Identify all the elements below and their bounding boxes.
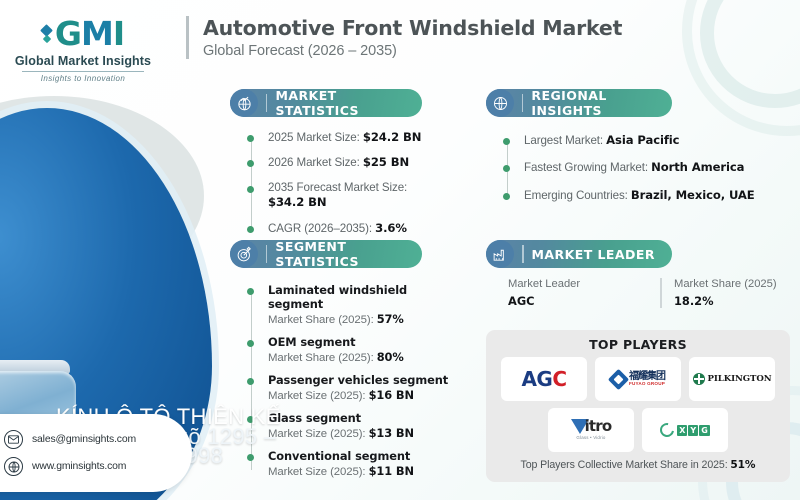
bullet-dot [247,288,254,295]
regional-insights-list: Largest Market: Asia Pacific Fastest Gro… [502,133,782,203]
gmi-logo: GMI Global Market Insights Insights to I… [8,14,158,83]
bullet-dot [503,193,510,200]
market-leader-column: Market Leader AGC [508,278,660,308]
collective-share-text: Top Players Collective Market Share in 2… [496,459,780,471]
list-item: Laminated windshield segment Market Shar… [246,283,456,326]
section-header-segment-statistics: SEGMENT STATISTICS [230,240,422,268]
pilkington-logo: PILKINGTON [689,357,775,401]
section-header-regional-insights: REGIONAL INSIGHTS [486,89,672,117]
list-item: Emerging Countries: Brazil, Mexico, UAE [502,188,782,203]
list-item: Largest Market: Asia Pacific [502,133,782,148]
bullet-dot [247,378,254,385]
section-label: MARKET LEADER [532,247,655,262]
target-chart-icon [230,240,258,268]
bullet-dot [503,165,510,172]
contact-website-row[interactable]: www.gminsights.com [4,457,192,476]
logo-divider [22,71,144,72]
contact-website: www.gminsights.com [32,461,126,472]
contact-email-row[interactable]: sales@gminsights.com [4,430,192,449]
logo-tagline: Insights to Innovation [8,74,158,83]
envelope-icon [4,430,23,449]
list-item: Fastest Growing Market: North America [502,160,782,175]
list-item: 2025 Market Size: $24.2 BN [246,130,446,145]
section-header-market-statistics: MARKET STATISTICS [230,89,422,117]
bullet-dot [503,138,510,145]
bullet-dot [247,226,254,233]
diamond-mark-icon [42,26,51,42]
market-leader-block: Market Leader AGC Market Share (2025) 18… [508,278,784,308]
logo-company-name: Global Market Insights [8,54,158,68]
market-share-column: Market Share (2025) 18.2% [660,278,777,308]
top-players-card: TOP PLAYERS AGC 福耀集团FUYAO GROUP PILKINGT… [486,330,790,482]
top-players-row-1: AGC 福耀集团FUYAO GROUP PILKINGTON [496,357,780,401]
segment-statistics-list: Laminated windshield segment Market Shar… [246,283,456,478]
fuyao-logo: 福耀集团FUYAO GROUP [595,357,681,401]
factory-icon [486,240,514,268]
section-label: MARKET STATISTICS [275,88,422,118]
section-label: SEGMENT STATISTICS [275,239,422,269]
market-share-value: 18.2% [674,294,777,308]
agc-logo: AGC [501,357,587,401]
list-item: Conventional segment Market Size (2025):… [246,449,456,478]
market-leader-label: Market Leader [508,278,648,290]
decorative-ring [682,0,800,136]
list-item: OEM segment Market Share (2025): 80% [246,335,456,364]
vitro-logo: itro Glass • Vidrio [548,408,634,452]
top-players-title: TOP PLAYERS [496,337,780,352]
list-item: CAGR (2026–2035): 3.6% [246,221,446,236]
globe-chart-icon [230,89,258,117]
globe-icon [4,457,23,476]
bullet-dot [247,340,254,347]
market-share-label: Market Share (2025) [674,278,777,290]
contact-card: sales@gminsights.com www.gminsights.com [0,414,192,492]
market-leader-value: AGC [508,294,648,308]
bullet-dot [247,186,254,193]
bullet-dot [247,454,254,461]
list-item: 2035 Forecast Market Size: $34.2 BN [246,181,446,211]
bullet-dot [247,135,254,142]
bullet-dot [247,160,254,167]
list-item: Passenger vehicles segment Market Size (… [246,373,456,402]
globe-icon [486,89,514,117]
infographic-root: GMI Global Market Insights Insights to I… [0,0,800,500]
section-header-market-leader: MARKET LEADER [486,240,672,268]
logo-wordmark: GMI [55,14,124,53]
xyg-logo: XYG [642,408,728,452]
page-title: Automotive Front Windshield Market [203,16,622,40]
list-item: 2026 Market Size: $25 BN [246,155,446,170]
page-subtitle: Global Forecast (2026 – 2035) [203,43,622,59]
top-players-row-2: itro Glass • Vidrio XYG [496,408,780,452]
market-statistics-list: 2025 Market Size: $24.2 BN 2026 Market S… [246,130,446,236]
contact-email: sales@gminsights.com [32,434,136,445]
section-label: REGIONAL INSIGHTS [531,88,672,118]
page-title-block: Automotive Front Windshield Market Globa… [186,16,622,59]
